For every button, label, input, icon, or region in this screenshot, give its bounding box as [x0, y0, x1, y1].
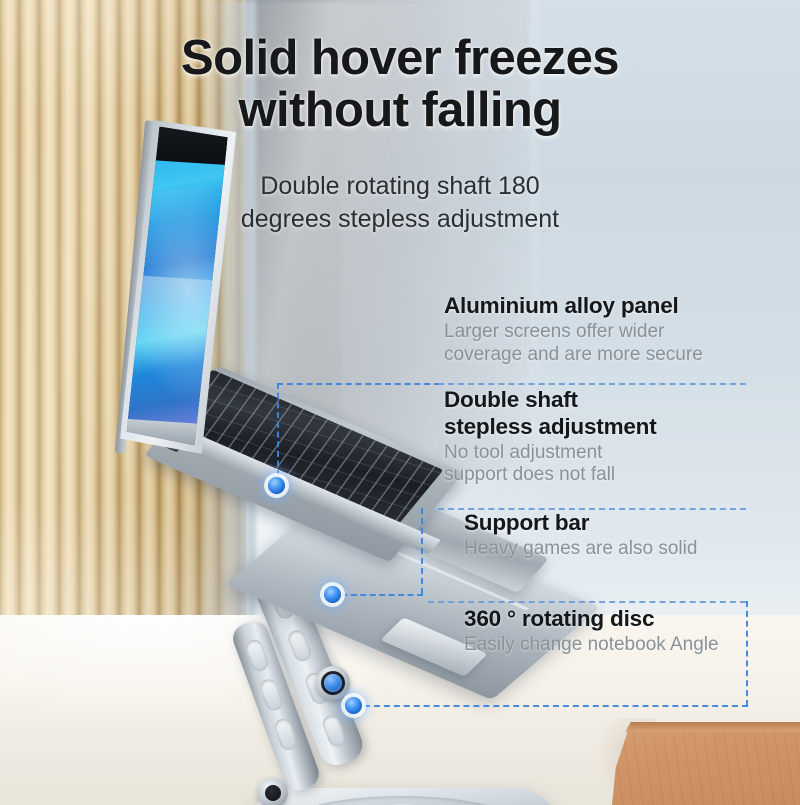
callout-subtitle-line-1: Heavy games are also solid	[464, 538, 782, 561]
leader-line-shaft-horizontal	[332, 594, 423, 596]
callout-title: Double shaft stepless adjustment	[444, 386, 782, 440]
callout-title-line-2: stepless adjustment	[444, 413, 782, 440]
callout-title: 360 ° rotating disc	[464, 605, 782, 632]
callout-subtitle: No tool adjustment support does not fall	[444, 442, 782, 488]
callout-subtitle-line-1: No tool adjustment	[444, 442, 782, 465]
headline-line-1: Solid hover freezes	[181, 31, 619, 85]
callout-360-rotating-disc: 360 ° rotating disc Easily change notebo…	[464, 605, 782, 657]
arm-slot	[258, 677, 285, 713]
callout-title-line-1: Double shaft	[444, 386, 782, 413]
arm-slot	[244, 637, 271, 673]
callout-title: Support bar	[464, 509, 782, 536]
callout-subtitle-line-1: Larger screens offer wider	[444, 321, 782, 344]
product-marketing-image: Solid hover freezes without falling Doub…	[0, 0, 800, 805]
callout-aluminium-alloy-panel: Aluminium alloy panel Larger screens off…	[444, 292, 782, 367]
feature-callout-list: Aluminium alloy panel Larger screens off…	[442, 292, 782, 657]
wooden-desk	[612, 722, 800, 805]
wooden-desk-edge	[612, 722, 800, 732]
leader-line-panel-vertical	[277, 383, 279, 486]
headline-line-2: without falling	[0, 84, 800, 136]
callout-subtitle-line-1: Easily change notebook Angle	[464, 634, 782, 657]
marker-dot-rotating-disc	[345, 697, 362, 714]
callout-support-bar: Support bar Heavy games are also solid	[464, 509, 782, 561]
leader-line-shaft-vertical	[421, 508, 423, 594]
arm-slot	[286, 628, 314, 664]
callout-subtitle: Easily change notebook Angle	[464, 634, 782, 657]
page-subheadline: Double rotating shaft 180 degrees steple…	[0, 170, 800, 235]
callout-subtitle: Heavy games are also solid	[464, 538, 782, 561]
middle-hinge-blue-cap	[324, 674, 342, 692]
leader-line-disc-horizontal	[354, 705, 748, 707]
leader-line-panel-horizontal	[277, 383, 440, 385]
callout-title: Aluminium alloy panel	[444, 292, 782, 319]
subheadline-line-1: Double rotating shaft 180	[260, 172, 539, 200]
marker-dot-support-bar	[324, 586, 341, 603]
page-headline: Solid hover freezes without falling	[0, 32, 800, 137]
callout-double-shaft-stepless-adjustment: Double shaft stepless adjustment No tool…	[444, 386, 782, 488]
marker-dot-double-shaft	[268, 477, 285, 494]
callout-subtitle: Larger screens offer wider coverage and …	[444, 321, 782, 367]
lower-hinge-ring	[265, 785, 281, 801]
callout-subtitle-line-2: support does not fall	[444, 464, 782, 487]
subheadline-line-2: degrees stepless adjustment	[241, 205, 559, 233]
arm-slot	[272, 716, 299, 752]
arm-slot	[320, 713, 348, 749]
callout-subtitle-line-2: coverage and are more secure	[444, 344, 782, 367]
